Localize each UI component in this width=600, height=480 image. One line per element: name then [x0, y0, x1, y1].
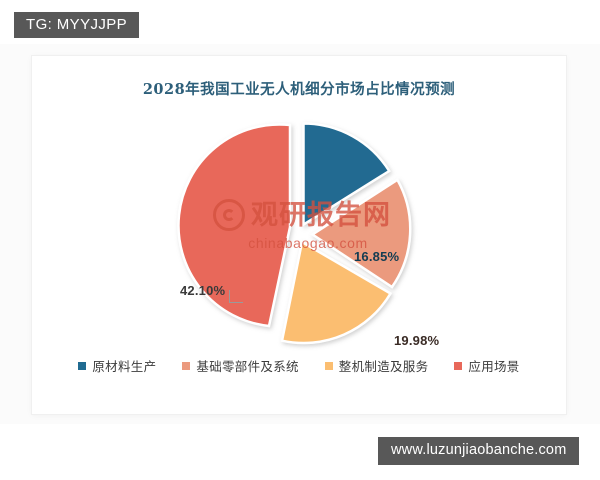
- legend-swatch-icon: [454, 362, 462, 370]
- legend-label: 基础零部件及系统: [196, 356, 298, 375]
- chart-card: 2028年我国工业无人机细分市场占比情况预测 观研报告网 chinabaogao: [32, 56, 566, 414]
- legend-item-raw-material[interactable]: 原材料生产: [78, 356, 156, 375]
- pie-label-assembly-service: 21.06%: [328, 412, 373, 414]
- legend-item-application-scene[interactable]: 应用场景: [454, 356, 519, 375]
- legend-label: 原材料生产: [92, 356, 156, 375]
- legend-item-assembly-service[interactable]: 整机制造及服务: [325, 356, 429, 375]
- pie-chart-plot: 观研报告网 chinabaogao.com 16.85% 19.98% 21.0…: [32, 102, 566, 354]
- pie-label-leader-line: [229, 290, 243, 303]
- legend-label: 应用场景: [468, 356, 519, 375]
- legend-item-core-components[interactable]: 基础零部件及系统: [182, 356, 298, 375]
- pie-label-core-components: 19.98%: [394, 333, 439, 348]
- pie-label-application-scene: 42.10%: [180, 283, 225, 298]
- pie-label-raw-material: 16.85%: [354, 249, 399, 264]
- legend-swatch-icon: [325, 362, 333, 370]
- chart-title: 2028年我国工业无人机细分市场占比情况预测: [32, 78, 566, 99]
- tg-tag: TG: MYYJJPP: [14, 12, 139, 38]
- legend-label: 整机制造及服务: [339, 356, 429, 375]
- legend-swatch-icon: [78, 362, 86, 370]
- chart-legend: 原材料生产 基础零部件及系统 整机制造及服务 应用场景: [32, 356, 566, 375]
- legend-swatch-icon: [182, 362, 190, 370]
- footer-url-bar: www.luzunjiaobanche.com: [378, 437, 579, 465]
